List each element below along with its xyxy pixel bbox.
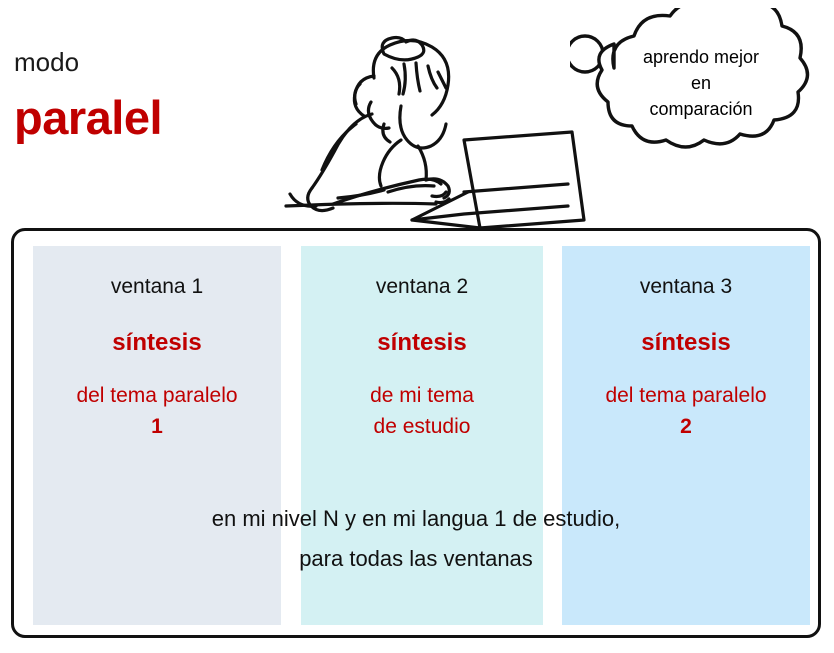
thought-bubble-line-3: comparación	[592, 96, 810, 122]
window-subtitle-1-line-2: 1	[33, 411, 281, 442]
mode-title: paralel	[14, 90, 162, 146]
person-studying-at-laptop-icon	[268, 6, 588, 228]
thought-bubble-line-2: en	[592, 70, 810, 96]
window-heading-3: síntesis	[562, 329, 810, 357]
header-area: modo paralel	[0, 0, 834, 228]
window-subtitle-2-line-2: de estudio	[301, 411, 543, 442]
thought-bubble-text: aprendo mejor en comparación	[592, 44, 810, 122]
window-subtitle-2-line-1: de mi tema	[301, 380, 543, 411]
window-heading-1: síntesis	[33, 329, 281, 357]
board-footer-line-1: en mi nivel N y en mi langua 1 de estudi…	[14, 499, 818, 539]
board-footer-line-2: para todas las ventanas	[14, 539, 818, 579]
window-subtitle-2: de mi tema de estudio	[301, 380, 543, 442]
window-subtitle-3-line-2: 2	[562, 411, 810, 442]
window-title-1: ventana 1	[33, 274, 281, 300]
window-subtitle-3: del tema paralelo 2	[562, 380, 810, 442]
parallel-mode-board: ventana 1 síntesis del tema paralelo 1 v…	[11, 228, 821, 638]
thought-bubble-line-1: aprendo mejor	[592, 44, 810, 70]
window-heading-2: síntesis	[301, 329, 543, 357]
window-title-2: ventana 2	[301, 274, 543, 300]
window-subtitle-1-line-1: del tema paralelo	[33, 380, 281, 411]
window-title-3: ventana 3	[562, 274, 810, 300]
board-footer-note: en mi nivel N y en mi langua 1 de estudi…	[14, 499, 818, 579]
window-subtitle-3-line-1: del tema paralelo	[562, 380, 810, 411]
window-subtitle-1: del tema paralelo 1	[33, 380, 281, 442]
mode-label: modo	[14, 47, 79, 77]
